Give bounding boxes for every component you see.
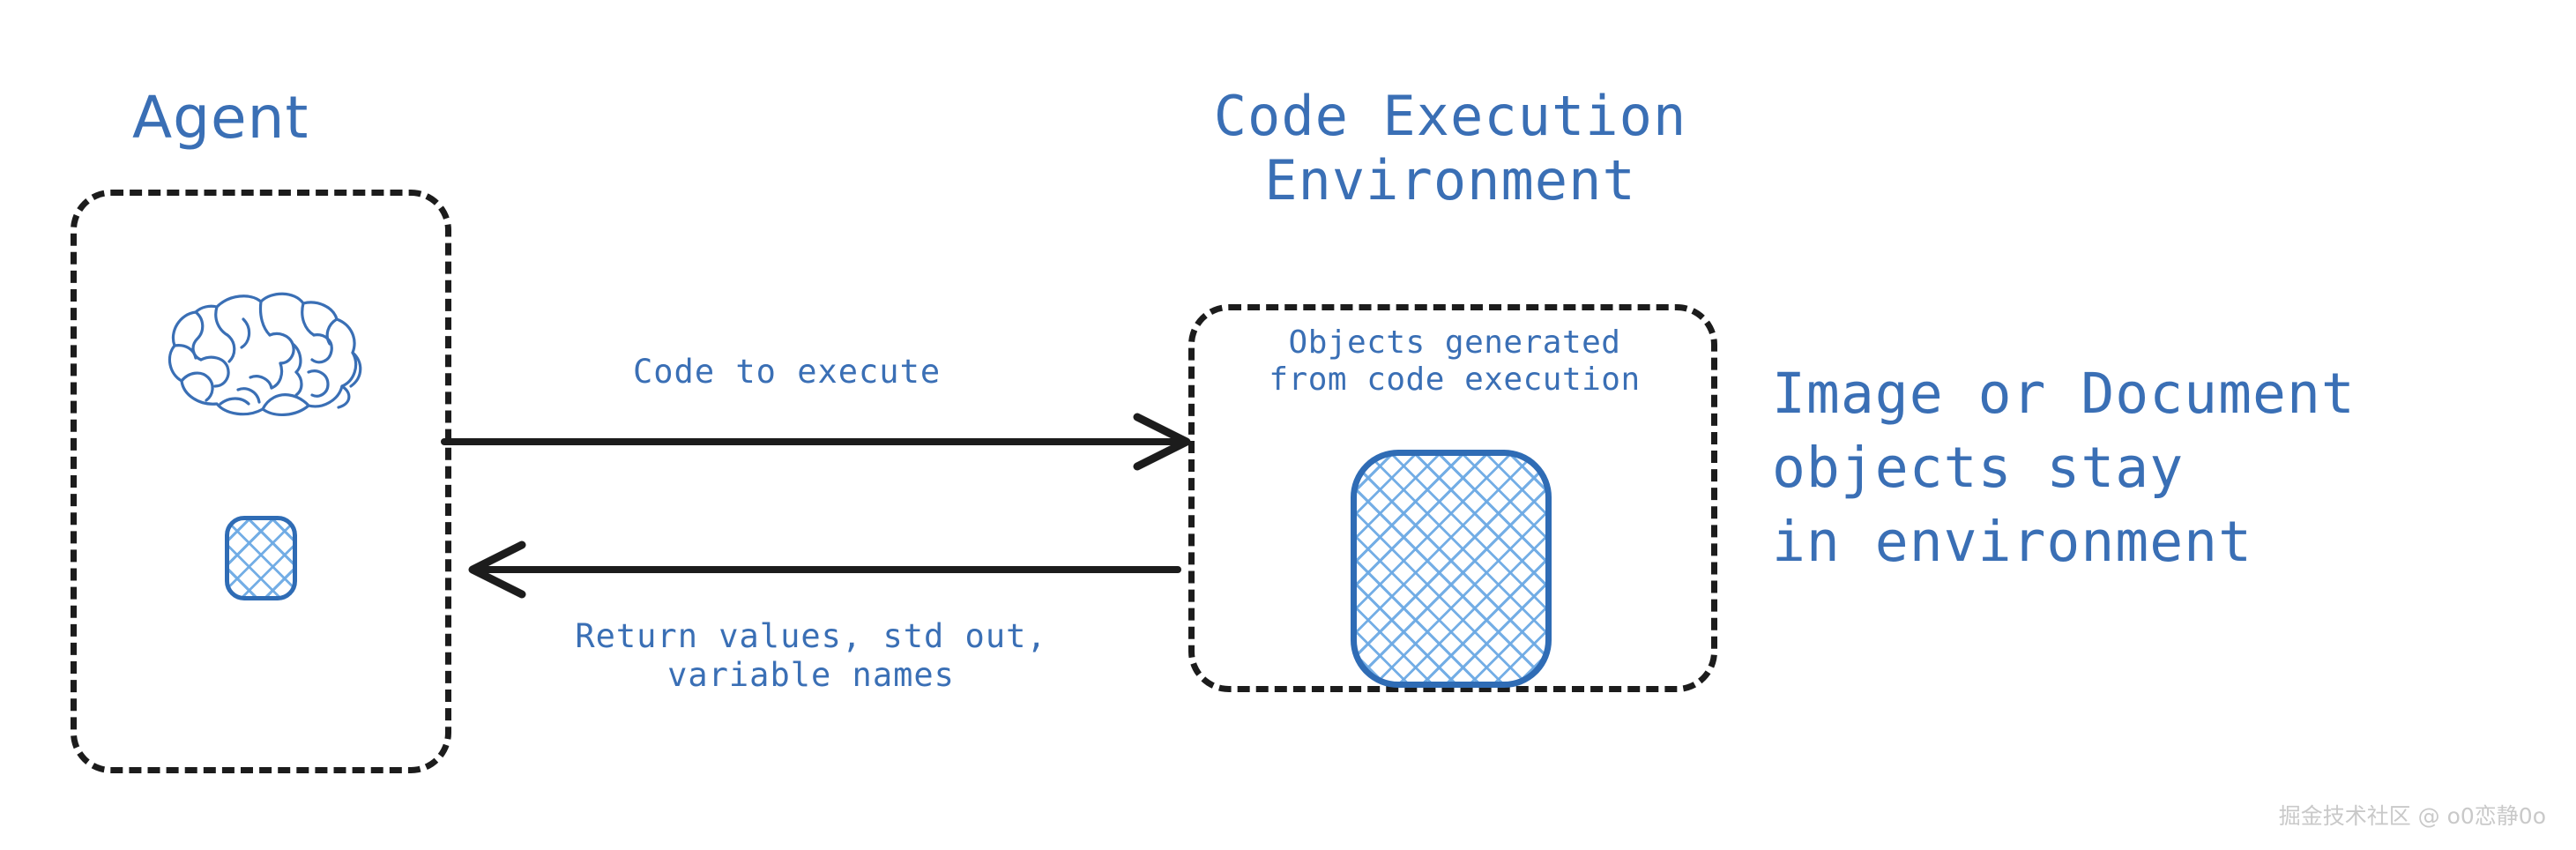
environment-inner-label: Objects generated from code execution <box>1234 324 1675 399</box>
arrow-return-label-line2: variable names <box>667 656 955 694</box>
environment-inner-label-line1: Objects generated <box>1289 324 1621 361</box>
persistence-note-line3: in environment <box>1772 510 2252 574</box>
persistence-note: Image or Document objects stay in enviro… <box>1772 357 2356 578</box>
arrow-return-label: Return values, std out, variable names <box>538 617 1084 694</box>
environment-object-icon <box>1351 450 1552 688</box>
arrow-return-label-line1: Return values, std out, <box>575 617 1046 655</box>
environment-title-line1: Code Execution <box>1214 84 1687 148</box>
persistence-note-line1: Image or Document <box>1772 362 2356 426</box>
arrow-code-to-execute <box>441 410 1199 472</box>
arrow-return-values <box>467 538 1181 600</box>
watermark: 掘金技术社区 @ o0恋静0o <box>2279 799 2546 831</box>
brain-icon <box>155 280 376 430</box>
environment-title: Code Execution Environment <box>1137 84 1763 212</box>
environment-title-line2: Environment <box>1264 148 1636 212</box>
persistence-note-line2: objects stay <box>1772 436 2184 500</box>
agent-container <box>71 190 451 773</box>
diagram-canvas: Agent <box>0 0 2576 850</box>
agent-object-icon <box>225 516 297 600</box>
environment-inner-label-line2: from code execution <box>1269 362 1640 398</box>
arrow-forward-label: Code to execute <box>633 353 941 391</box>
agent-title: Agent <box>132 84 309 153</box>
